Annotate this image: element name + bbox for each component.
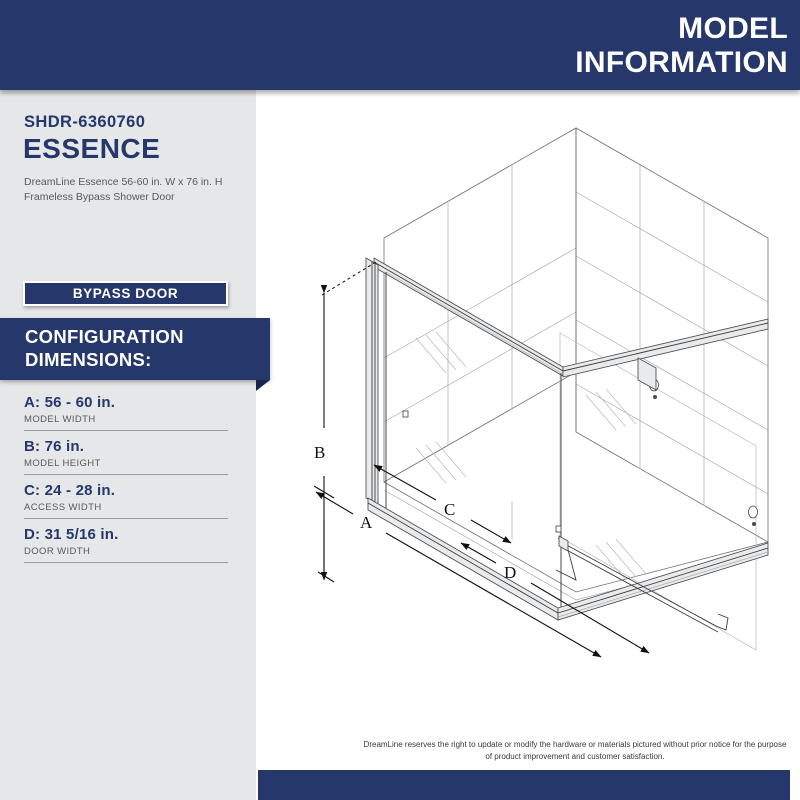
dimension-row-d: D: 31 5/16 in. DOOR WIDTH	[24, 526, 228, 563]
dimension-label-d-text: D	[504, 563, 516, 582]
page-title-line-1: MODEL	[268, 12, 788, 46]
dimension-list: A: 56 - 60 in. MODEL WIDTH B: 76 in. MOD…	[24, 394, 228, 563]
glass-clips	[403, 411, 561, 532]
dimension-label-a-text: A	[360, 513, 373, 532]
model-information-page: MODEL INFORMATION SHDR-6360760 ESSENCE D…	[0, 0, 800, 800]
glass-shine-marks-fixed	[586, 389, 646, 580]
dimension-label-c: ACCESS WIDTH	[24, 501, 228, 515]
dimension-value-d: D: 31 5/16 in.	[24, 526, 228, 545]
info-sidebar: SHDR-6360760 ESSENCE DreamLine Essence 5…	[0, 90, 256, 800]
shower-door-isometric-svg: .ln { fill:none; stroke:#6f7072; stroke-…	[256, 90, 800, 800]
dimension-row-b: B: 76 in. MODEL HEIGHT	[24, 438, 228, 475]
bottom-track	[368, 498, 768, 620]
configuration-dimensions-banner: CONFIGURATION DIMENSIONS:	[0, 318, 270, 380]
dimension-value-a: A: 56 - 60 in.	[24, 394, 228, 413]
model-sku: SHDR-6360760	[24, 113, 145, 132]
config-banner-tail-triangle	[256, 380, 270, 391]
page-title-line-2: INFORMATION	[268, 46, 788, 80]
dimension-value-c: C: 24 - 28 in.	[24, 482, 228, 501]
dimension-label-a: MODEL WIDTH	[24, 413, 228, 427]
back-wall-tiles	[384, 128, 576, 482]
dimension-row-a: A: 56 - 60 in. MODEL WIDTH	[24, 394, 228, 431]
footer-bar	[258, 770, 790, 800]
door-type-badge: BYPASS DOOR	[23, 281, 228, 306]
legal-disclaimer: DreamLine reserves the right to update o…	[360, 739, 790, 763]
dimension-label-b-text: B	[314, 443, 325, 462]
wall-jamb-profile	[366, 258, 378, 505]
dimension-value-b: B: 76 in.	[24, 438, 228, 457]
model-description: DreamLine Essence 56-60 in. W x 76 in. H…	[24, 175, 224, 205]
config-banner-line-1: CONFIGURATION	[25, 325, 270, 348]
dimension-marker-c: C	[374, 465, 512, 543]
page-header: MODEL INFORMATION	[0, 0, 800, 90]
dimension-row-c: C: 24 - 28 in. ACCESS WIDTH	[24, 482, 228, 519]
top-rail	[374, 254, 768, 377]
dimension-label-c-text: C	[444, 500, 455, 519]
dimension-marker-a: A	[316, 492, 601, 657]
config-banner-line-2: DIMENSIONS:	[25, 348, 270, 371]
page-title: MODEL INFORMATION	[268, 12, 788, 79]
product-technical-drawing: .ln { fill:none; stroke:#6f7072; stroke-…	[256, 90, 800, 800]
dimension-label-d: DOOR WIDTH	[24, 545, 228, 559]
roller-hardware	[638, 358, 758, 526]
model-name: ESSENCE	[23, 133, 160, 165]
dimension-label-b: MODEL HEIGHT	[24, 457, 228, 471]
